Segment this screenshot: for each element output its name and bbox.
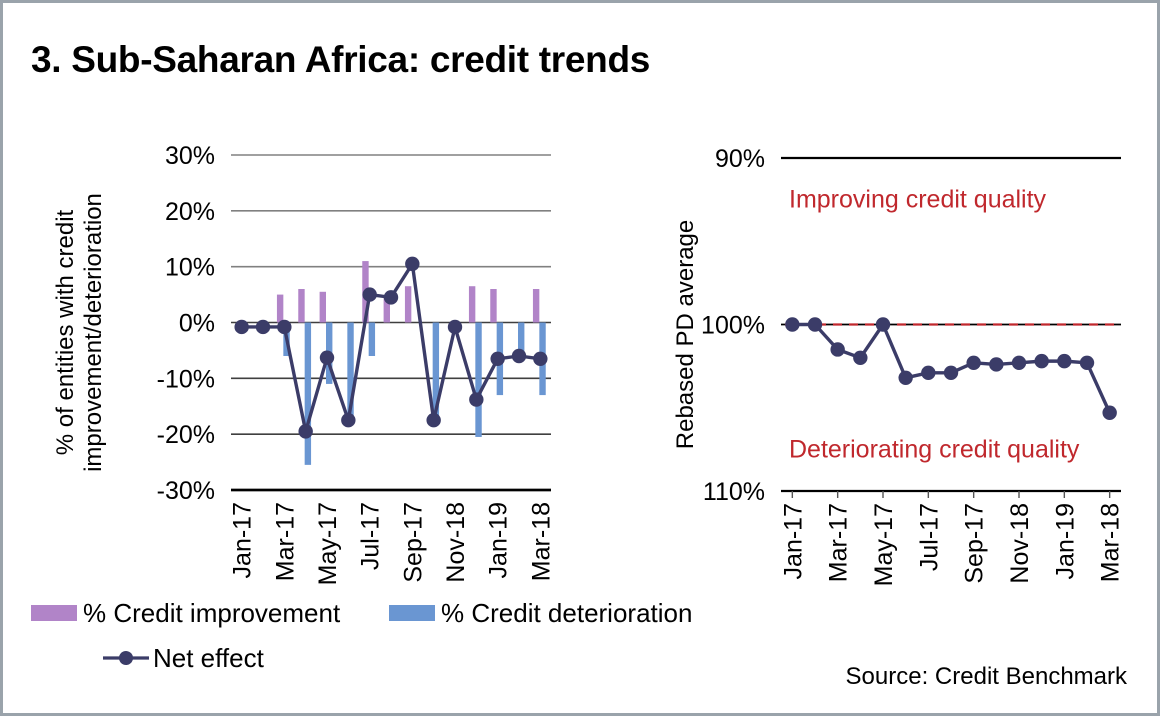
right-ytick-label: 110% xyxy=(703,478,765,506)
pd-average-point xyxy=(808,317,822,331)
right-xtick-label: Jul-17 xyxy=(915,503,943,571)
legend-swatch-improvement xyxy=(31,605,77,621)
left-xtick-label: Nov-18 xyxy=(442,502,470,583)
pd-average-point xyxy=(921,366,935,380)
net-effect-point xyxy=(512,349,526,363)
left-ytick-label: 0% xyxy=(179,310,215,338)
right-xtick-label: Mar-18 xyxy=(1097,503,1125,582)
pd-average-point xyxy=(1012,356,1026,370)
pd-average-point xyxy=(1102,406,1116,420)
net-effect-point xyxy=(384,290,398,304)
left-xtick-label: Sep-17 xyxy=(399,502,427,583)
pd-average-point xyxy=(785,317,799,331)
left-chart: 30%20%10%0%-10%-20%-30%Jan-17Mar-17May-1… xyxy=(52,142,555,585)
pd-average-point xyxy=(989,357,1003,371)
bar-deterioration xyxy=(369,323,375,357)
pd-average-point xyxy=(898,371,912,385)
right-xtick-label: Jan-19 xyxy=(1051,503,1079,579)
net-effect-point xyxy=(277,320,291,334)
legend-marker-net-effect xyxy=(119,651,133,665)
source-note: Source: Credit Benchmark xyxy=(846,663,1127,691)
left-ytick-label: -30% xyxy=(157,477,215,505)
pd-average-point xyxy=(1080,356,1094,370)
right-ytick-label: 100% xyxy=(701,312,765,340)
pd-average-point xyxy=(1034,354,1048,368)
right-xtick-label: Jan-17 xyxy=(779,503,807,579)
pd-average-point xyxy=(830,342,844,356)
left-xtick-label: May-17 xyxy=(314,502,342,585)
left-ytick-label: 10% xyxy=(165,254,215,282)
net-effect-point xyxy=(426,413,440,427)
chart-page: 3. Sub-Saharan Africa: credit trends 30%… xyxy=(0,0,1160,716)
bar-improvement xyxy=(277,295,283,323)
right-xtick-label: May-17 xyxy=(870,503,898,586)
pd-average-point xyxy=(876,317,890,331)
left-yaxis-title-line1: % of entities with credit xyxy=(52,209,79,455)
left-ytick-label: 30% xyxy=(165,142,215,170)
legend: % Credit improvement% Credit deteriorati… xyxy=(31,598,692,673)
bar-improvement xyxy=(320,292,326,323)
charts-canvas: 30%20%10%0%-10%-20%-30%Jan-17Mar-17May-1… xyxy=(3,3,1160,716)
net-effect-point xyxy=(256,320,270,334)
left-xtick-label: Mar-17 xyxy=(271,502,299,581)
bar-deterioration xyxy=(475,323,481,437)
net-effect-point xyxy=(405,257,419,271)
left-xtick-label: Mar-18 xyxy=(527,502,555,581)
net-effect-point xyxy=(490,352,504,366)
net-effect-point xyxy=(469,392,483,406)
bar-deterioration xyxy=(305,323,311,465)
left-ytick-label: -10% xyxy=(157,365,215,393)
legend-swatch-deterioration xyxy=(389,605,435,621)
bar-improvement xyxy=(469,286,475,322)
bar-improvement xyxy=(298,289,304,323)
left-yaxis-title-line2: improvement/deterioration xyxy=(80,193,107,472)
right-xtick-label: Sep-17 xyxy=(961,503,989,584)
net-effect-point xyxy=(448,320,462,334)
left-xtick-label: Jan-17 xyxy=(229,502,257,578)
right-ytick-label: 90% xyxy=(715,145,765,173)
left-ytick-label: 20% xyxy=(165,198,215,226)
net-effect-point xyxy=(320,350,334,364)
pd-average-point xyxy=(966,356,980,370)
legend-label-improvement: % Credit improvement xyxy=(83,598,341,628)
net-effect-point xyxy=(533,352,547,366)
pd-average-point xyxy=(853,351,867,365)
left-ytick-label: -20% xyxy=(157,421,215,449)
right-xtick-label: Mar-17 xyxy=(825,503,853,582)
net-effect-point xyxy=(298,424,312,438)
right-xtick-label: Nov-18 xyxy=(1006,503,1034,584)
legend-label-deterioration: % Credit deterioration xyxy=(441,598,692,628)
net-effect-point xyxy=(234,320,248,334)
left-xtick-label: Jul-17 xyxy=(357,502,385,570)
left-xtick-label: Jan-19 xyxy=(485,502,513,578)
right-yaxis-title: Rebased PD average xyxy=(672,220,699,449)
pd-average-point xyxy=(1057,354,1071,368)
annotation-improving: Improving credit quality xyxy=(789,186,1047,214)
net-effect-point xyxy=(362,287,376,301)
bar-improvement xyxy=(533,289,539,323)
bar-improvement xyxy=(405,286,411,322)
pd-average-point xyxy=(944,366,958,380)
right-chart: 90%100%110%Improving credit qualityDeter… xyxy=(672,145,1125,586)
net-effect-point xyxy=(341,413,355,427)
bar-improvement xyxy=(490,289,496,323)
annotation-deteriorating: Deteriorating credit quality xyxy=(789,435,1080,463)
legend-label-net-effect: Net effect xyxy=(153,643,265,673)
